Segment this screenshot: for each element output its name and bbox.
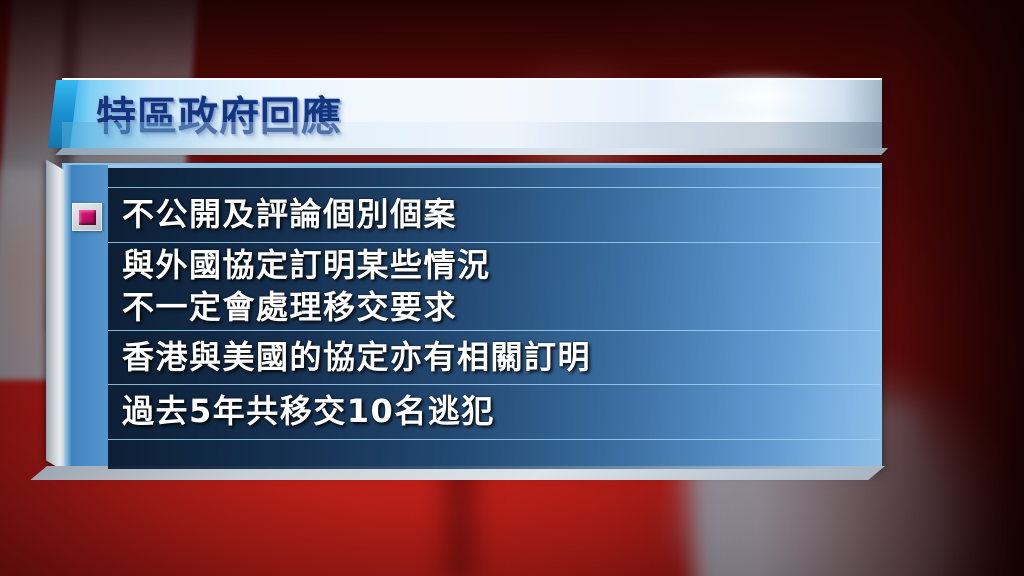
bullet-row: 不公開及評論個別個案 <box>108 187 880 242</box>
bullet-row: 香港與美國的協定亦有相關訂明 <box>108 330 880 384</box>
broadcast-graphic-screen: 特區政府回應 不公開及評論個別個案 與外國協定訂明某些情況 不一定會處理移交要求 <box>0 0 1024 576</box>
bullet-row: 過去5年共移交10名逃犯 <box>108 384 880 439</box>
title-bar-gloss <box>672 74 852 120</box>
bullet-row-text: 過去5年共移交10名逃犯 <box>108 391 495 433</box>
bullet-row: 與外國協定訂明某些情況 不一定會處理移交要求 <box>108 242 880 330</box>
panel-left-rail <box>64 165 108 466</box>
bullet-row-text: 香港與美國的協定亦有相關訂明 <box>108 337 591 379</box>
bullet-row-text: 與外國協定訂明某些情況 不一定會處理移交要求 <box>108 245 491 328</box>
bullet-square-glyph <box>79 210 96 225</box>
graphic-title-bar: 特區政府回應 <box>62 78 882 148</box>
bullet-row-list: 不公開及評論個別個案 與外國協定訂明某些情況 不一定會處理移交要求 香港與美國的… <box>108 165 880 466</box>
title-bar-bevel <box>55 148 888 155</box>
panel-left-bevel <box>46 159 66 472</box>
graphic-body-panel: 不公開及評論個別個案 與外國協定訂明某些情況 不一定會處理移交要求 香港與美國的… <box>62 163 882 468</box>
rail-sheen <box>64 165 71 466</box>
row-spacer-bottom <box>108 439 880 469</box>
page-title: 特區政府回應 <box>96 84 342 142</box>
bullet-row-text: 不公開及評論個別個案 <box>108 194 457 236</box>
row-spacer-top <box>108 165 880 187</box>
magenta-square-bullet-icon <box>72 203 102 231</box>
